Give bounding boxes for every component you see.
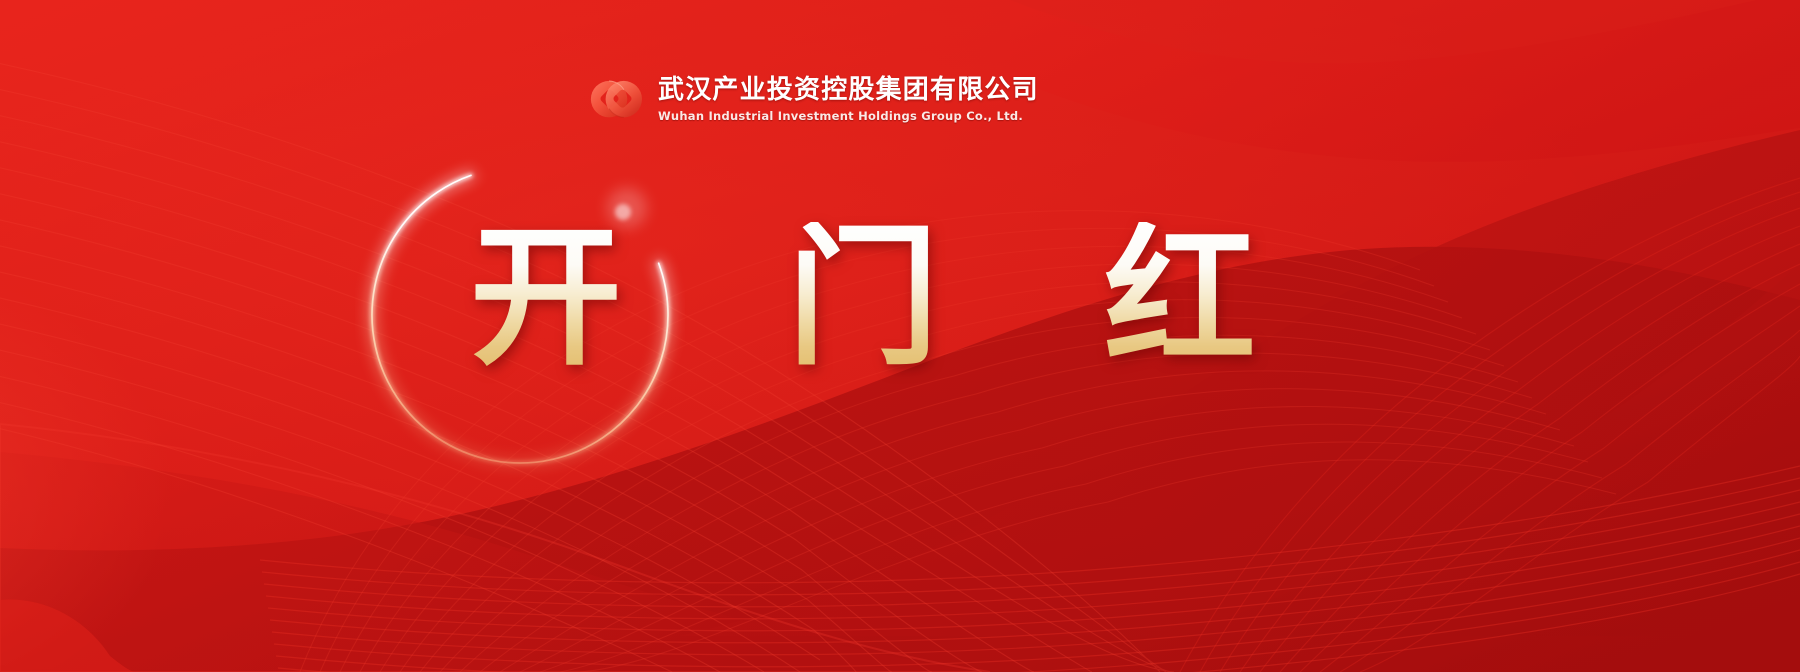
company-logo-lockup[interactable]: 武汉产业投资控股集团有限公司 Wuhan Industrial Investme… xyxy=(588,74,1039,126)
company-name-en: Wuhan Industrial Investment Holdings Gro… xyxy=(658,108,1039,125)
headline-kaimenhong: 开 门 红 xyxy=(470,222,1312,374)
company-name-cn: 武汉产业投资控股集团有限公司 xyxy=(658,75,1039,106)
company-name-block: 武汉产业投资控股集团有限公司 Wuhan Industrial Investme… xyxy=(658,75,1039,125)
interlocking-rings-logo-icon xyxy=(588,74,644,126)
festive-red-banner: 武汉产业投资控股集团有限公司 Wuhan Industrial Investme… xyxy=(0,0,1800,672)
